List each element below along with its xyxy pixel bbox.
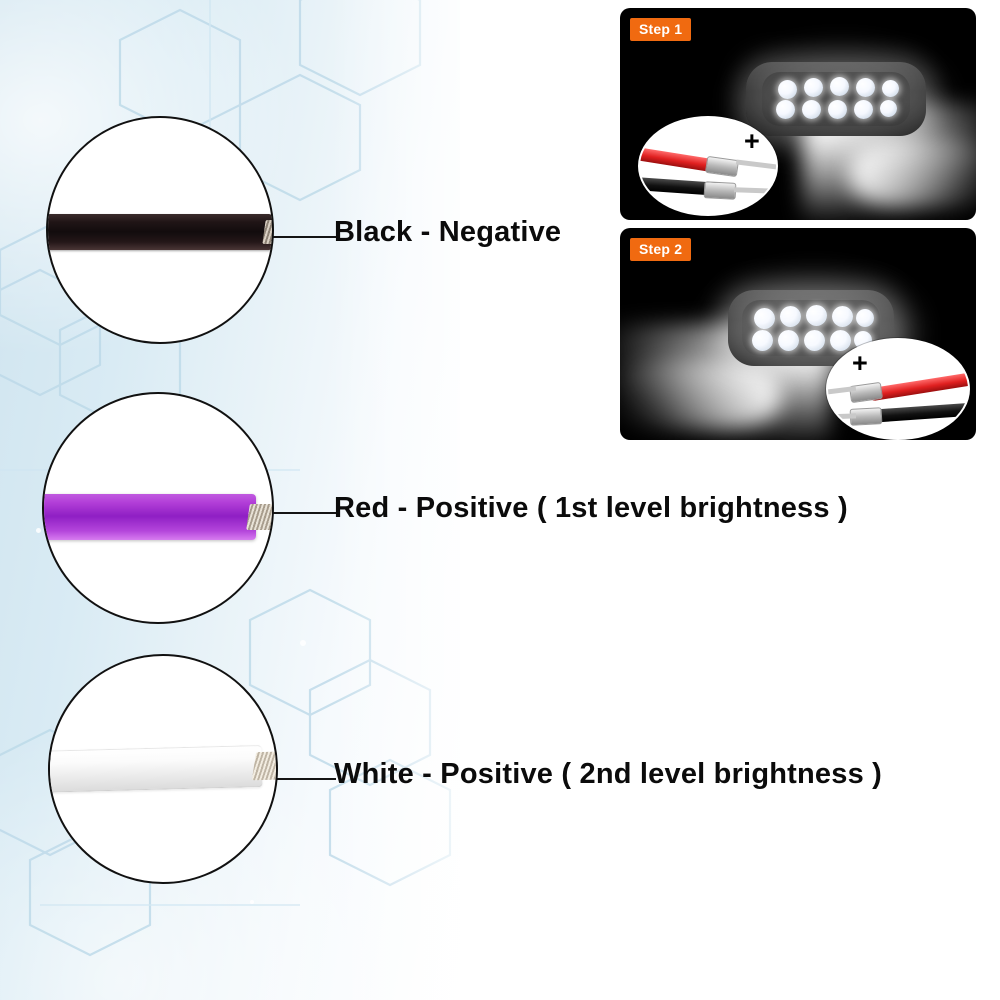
callout-label-white: White - Positive ( 2nd level brightness … — [334, 758, 882, 791]
callout-circle-white-wire — [48, 654, 278, 884]
plus-terminal-icon: + — [744, 126, 760, 157]
callout-circle-red-wire — [42, 392, 274, 624]
black-wire-icon — [46, 214, 272, 250]
light-beam — [850, 138, 976, 208]
terminal-pin — [734, 187, 776, 193]
step-2-badge: Step 2 — [630, 238, 691, 261]
sparkle-dot — [300, 640, 306, 646]
callout-circle-black-wire — [46, 116, 274, 344]
lamp-glow — [740, 54, 940, 150]
step-1-photo: Step 1 + — [620, 8, 976, 220]
leader-line-red — [268, 512, 336, 514]
sparkle-dot — [250, 900, 254, 904]
connector-ferrule — [704, 181, 737, 200]
callout-label-black: Black - Negative — [334, 216, 561, 249]
sparkle-dot — [36, 528, 41, 533]
leader-line-white — [268, 778, 336, 780]
step-1-connector-inset: + — [638, 116, 778, 216]
red-wire-icon — [42, 494, 256, 540]
connector-ferrule — [705, 156, 739, 177]
callout-label-red: Red - Positive ( 1st level brightness ) — [334, 492, 848, 525]
red-wire-connector — [868, 371, 970, 401]
leader-line-black — [268, 236, 336, 238]
product-infographic: Black - Negative Red - Positive ( 1st le… — [0, 0, 1000, 1000]
white-wire-icon — [48, 745, 263, 793]
step-1-badge: Step 1 — [630, 18, 691, 41]
black-wire-connector — [872, 402, 970, 422]
plus-terminal-icon: + — [852, 348, 868, 379]
step-2-photo: Step 2 + — [620, 228, 976, 440]
terminal-pin — [736, 159, 778, 169]
step-2-connector-inset: + — [826, 338, 970, 440]
